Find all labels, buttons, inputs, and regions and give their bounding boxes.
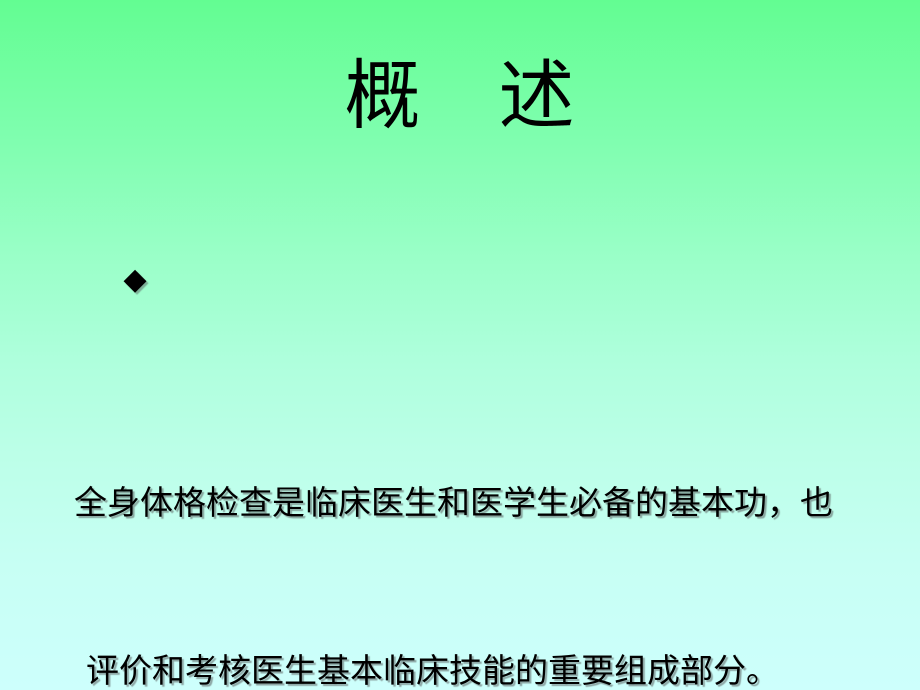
bullet-text-line: 全身体格检查是临床医生和医学生必备的基本功，也 [74,476,830,532]
diamond-bullet-icon: ◆ [124,252,158,308]
slide-body-content: ◆ 全身体格检查是临床医生和医学生必备的基本功，也 评价和考核医生基本临床技能的… [74,196,874,690]
bullet-text-line: 评价和考核医生基本临床技能的重要组成部分。 [74,644,830,690]
page-title: 概 述 [345,58,576,138]
bullet-paragraph-text: 全身体格检查是临床医生和医学生必备的基本功，也 评价和考核医生基本临床技能的重要… [74,364,830,690]
bullet-paragraph: ◆ 全身体格检查是临床医生和医学生必备的基本功，也 评价和考核医生基本临床技能的… [74,196,874,690]
slide-title-container: 概 述 [0,58,920,138]
presentation-slide: 概 述 ◆ 全身体格检查是临床医生和医学生必备的基本功，也 评价和考核医生基本临… [0,0,920,690]
